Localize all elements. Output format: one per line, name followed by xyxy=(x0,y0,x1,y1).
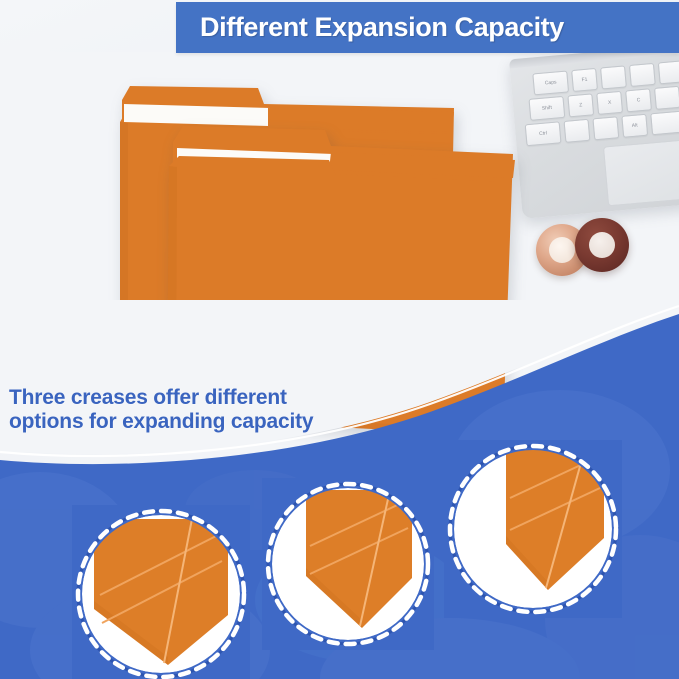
caption-block: Three creases offer different options fo… xyxy=(9,386,313,434)
laptop-key-blank-g xyxy=(564,119,591,143)
page-title: Different Expansion Capacity xyxy=(200,12,564,43)
laptop-key-x: X xyxy=(596,91,623,115)
laptop-key-f1: F1 xyxy=(571,68,598,92)
silver-laptop: Caps F1 Shift Z X C Ctrl Alt xyxy=(509,41,679,229)
laptop-key-space xyxy=(650,109,679,135)
laptop-key-blank-b xyxy=(629,63,656,87)
laptop-key-c: C xyxy=(625,88,652,112)
laptop-key-shift: Shift xyxy=(529,96,566,121)
laptop-key-blank-c xyxy=(658,60,679,84)
laptop-key-blank-h xyxy=(592,116,619,140)
caption-line-2: options for expanding capacity xyxy=(9,410,313,434)
laptop-trackpad xyxy=(603,140,679,207)
laptop-key-z: Z xyxy=(567,93,594,117)
crease-option-2[interactable] xyxy=(262,478,434,650)
dark-brown-tape-roll xyxy=(575,218,629,272)
infographic-page: Caps F1 Shift Z X C Ctrl Alt xyxy=(0,0,679,679)
laptop-key-blank-e xyxy=(654,86,679,110)
crease-option-3[interactable] xyxy=(444,440,622,618)
crease-option-1[interactable] xyxy=(72,505,250,679)
caption-line-1: Three creases offer different xyxy=(9,386,313,410)
laptop-key-caps: Caps xyxy=(532,70,569,95)
laptop-key-alt: Alt xyxy=(621,114,648,138)
title-banner: Different Expansion Capacity xyxy=(176,2,679,53)
laptop-key-blank-a xyxy=(600,65,627,89)
